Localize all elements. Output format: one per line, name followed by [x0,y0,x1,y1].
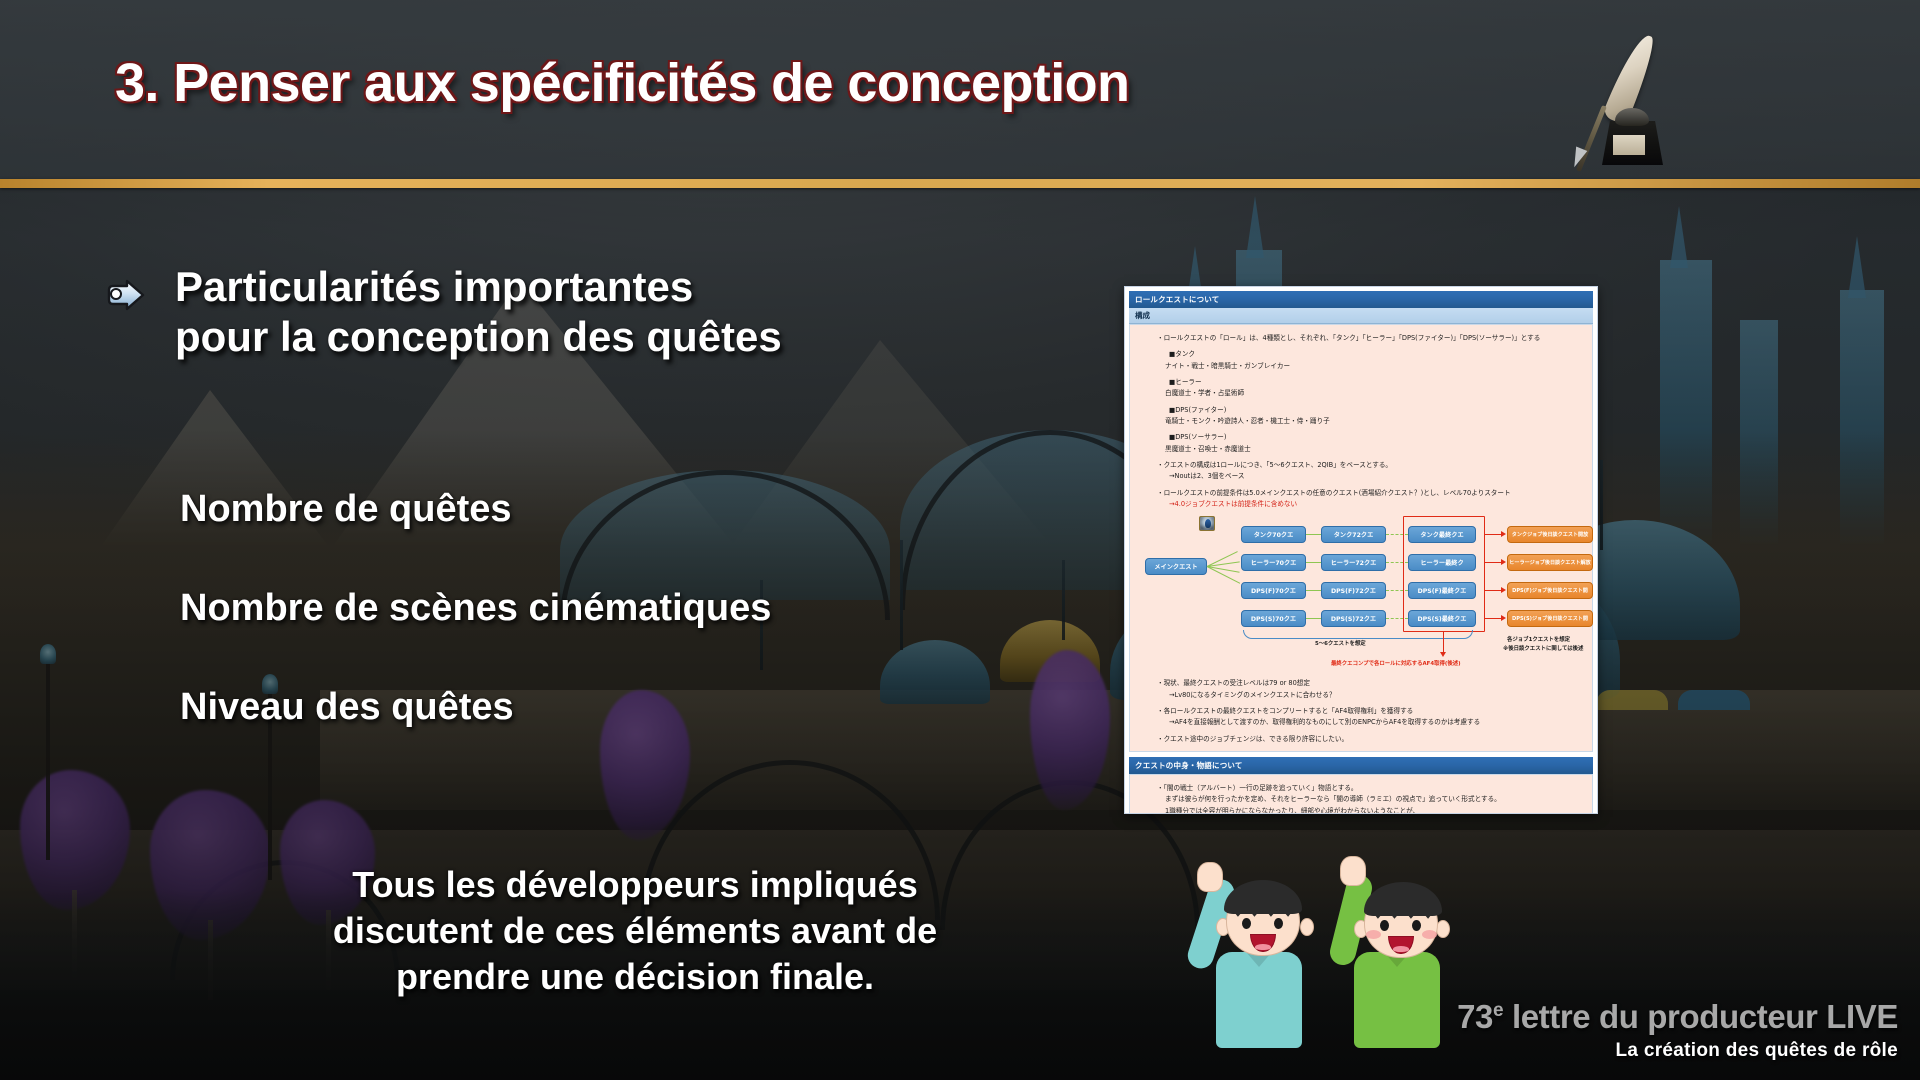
kid-hair-icon [1364,882,1442,916]
flow-connector [1306,562,1321,563]
doc-line: ・各ロールクエストの最終クエストをコンプリートすると「AF4取得権利」を獲得する [1139,706,1583,717]
kid-ear-icon [1300,918,1314,936]
doc-section1-body: ・ロールクエストの「ロール」は、4種類とし、それぞれ、「タンク」「ヒーラー」「D… [1129,324,1593,752]
kid-eyebrow [1378,914,1392,918]
flow-node-healer-70: ヒーラー70クエ [1241,554,1306,571]
arrow-down-icon [1440,652,1446,657]
doc-section1-band: ロールクエストについて [1129,291,1593,308]
brace-note: 5〜6クエストを想定 [1315,640,1366,648]
doc-line: ・ロールクエストの前提条件は5.0メインクエストの任意のクエスト(酒場紹介クエス… [1139,488,1583,499]
slide-title: 3. Penser aux spécificités de conception [115,52,1129,114]
flow-node-tank-epilogue: タンクジョブ後日談クエスト開放 [1507,526,1593,543]
doc-section2-body: ・「闇の戦士（アルバート）一行の足跡を追っていく」物語とする。まずは彼らが何を行… [1129,774,1593,814]
brand-number: 73 [1457,998,1493,1035]
doc-line: ■ヒーラー [1139,377,1583,388]
arrow-right-icon [1501,531,1506,537]
kid-eyebrow [1240,912,1254,916]
conclusion-line-3: prendre une décision finale. [130,954,1140,1000]
doc-line: 白魔道士・学者・占星術師 [1139,388,1583,399]
flow-connector [1306,618,1321,619]
flow-node-healer-final: ヒーラー最終ク [1408,554,1476,571]
kid-ear-icon [1436,920,1450,938]
main-bullet-block: Particularités importantes pour la conce… [105,262,1105,361]
flow-connector [1306,534,1321,535]
list-item: Nombre de scènes cinématiques [180,587,1100,630]
list-item: Nombre de quêtes [180,488,1100,531]
conclusion-text: Tous les développeurs impliqués discuten… [130,862,1140,1000]
flow-node-dpsf-final: DPS(F)最終クエ [1408,582,1476,599]
doc-line: ・クエスト途中のジョブチェンジは、できる限り許容にしたい。 [1139,734,1583,745]
flow-node-dpsf-72: DPS(F)72クエ [1321,582,1386,599]
kid-eyebrow [1410,914,1424,918]
doc-line: ■DPS(ソーサラー) [1139,432,1583,443]
doc-line: 1職種分では全容が明らかにならなかったり、細部や心境がわからないようなことが、 [1139,806,1583,814]
arrow-right-icon [1501,615,1506,621]
doc-line: →4.0ジョブクエストは前提条件に含めない [1139,499,1583,510]
kid-hair-icon [1224,880,1302,914]
doc-line: ・「闇の戦士（アルバート）一行の足跡を追っていく」物語とする。 [1139,783,1583,794]
flow-connector-red-vertical [1443,632,1444,654]
brand-subtitle: La création des quêtes de rôle [1457,1040,1898,1062]
doc-line: ・クエストの構成は1ロールにつき、「5〜6クエスト、2QIB」をベースとする。 [1139,460,1583,471]
broadcast-branding: 73e lettre du producteur LIVE La créatio… [1457,1000,1898,1062]
doc-line: →AF4を直接報酬として渡すのか、取得権利的なものにして別のENPCからAF4を… [1139,717,1583,728]
kid-cheek [1366,930,1381,939]
bullet-heading: Particularités importantes pour la conce… [175,262,1105,361]
main-quest-icon [1199,516,1215,531]
flow-node-dpss-72: DPS(S)72クエ [1321,610,1386,627]
kid-cheek [1422,930,1437,939]
af4-note: 最終クエコンプで各ロールに対応するAF4取得(後述) [1331,660,1461,668]
doc-line: まずは彼らが何を行ったかを定め、それをヒーラーなら「闇の導師（ラミエ）の視点で」… [1139,794,1583,805]
flow-node-tank-70: タンク70クエ [1241,526,1306,543]
doc-section1-subband: 構成 [1129,308,1593,324]
kid-eye-icon [1380,920,1389,931]
waving-characters-illustration [1188,856,1458,1080]
inkwell-lid-icon [1615,108,1649,126]
doc-line: 竜騎士・モンク・吟遊詩人・忍者・機工士・侍・踊り子 [1139,416,1583,427]
flow-node-dpss-70: DPS(S)70クエ [1241,610,1306,627]
list-item: Niveau des quêtes [180,686,1100,729]
doc-line: →Noutは2、3個をベース [1139,471,1583,482]
brand-title: 73e lettre du producteur LIVE [1457,1000,1898,1035]
kid-eyebrow [1272,912,1286,916]
inkwell-label [1613,135,1645,155]
doc-section2-lines: ・「闇の戦士（アルバート）一行の足跡を追っていく」物語とする。まずは彼らが何を行… [1139,783,1583,814]
flow-connector [1306,590,1321,591]
japanese-design-document-panel: ロールクエストについて 構成 ・ロールクエストの「ロール」は、4種類とし、それぞ… [1124,286,1598,814]
flow-node-dpsf-70: DPS(F)70クエ [1241,582,1306,599]
flow-node-healer-epilogue: ヒーラージョブ後日談クエスト解放 [1507,554,1593,571]
kid-eye-icon [1412,920,1421,931]
kid-eye-icon [1242,918,1251,929]
doc-line: ■DPS(ファイター) [1139,405,1583,416]
bullet-heading-line-1: Particularités importantes [175,262,1105,312]
flow-node-healer-72: ヒーラー72クエ [1321,554,1386,571]
arrow-right-icon [1501,587,1506,593]
flow-node-dpss-epilogue: DPS(S)ジョブ後日談クエスト開 [1507,610,1593,627]
quest-count-brace [1243,630,1473,639]
conclusion-line-1: Tous les développeurs impliqués [130,862,1140,908]
bullet-heading-line-2: pour la conception des quêtes [175,312,1105,362]
flow-node-tank-72: タンク72クエ [1321,526,1386,543]
doc-section1-after-lines: ・現状、最終クエストの受注レベルは79 or 80想定→Lv80になるタイミング… [1139,678,1583,745]
brand-ordinal: e [1493,1000,1503,1021]
kid-hand-icon [1197,862,1223,892]
quill-pen-and-inkwell-icon [1556,22,1716,182]
doc-line: 黒魔道士・召喚士・赤魔道士 [1139,444,1583,455]
job-quest-note-line2: ※後日談クエストに関しては後述 [1503,645,1583,653]
doc-section1-lines: ・ロールクエストの「ロール」は、4種類とし、それぞれ、「タンク」「ヒーラー」「D… [1139,333,1583,510]
flow-node-start: メインクエスト [1145,558,1207,575]
brand-title-rest: lettre du producteur LIVE [1503,998,1898,1035]
flow-node-dpss-final: DPS(S)最終クエ [1408,610,1476,627]
doc-line: ■タンク [1139,349,1583,360]
pointing-hand-bullet-icon [105,276,153,312]
doc-line: ・ロールクエストの「ロール」は、4種類とし、それぞれ、「タンク」「ヒーラー」「D… [1139,333,1583,344]
job-quest-note-line1: 各ジョブ1クエストを想定 [1507,636,1570,644]
flow-node-tank-final: タンク最終クエ [1408,526,1476,543]
doc-line: ・現状、最終クエストの受注レベルは79 or 80想定 [1139,678,1583,689]
consideration-list: Nombre de quêtes Nombre de scènes cinéma… [180,488,1100,785]
doc-line: ナイト・戦士・暗黒騎士・ガンブレイカー [1139,361,1583,372]
conclusion-line-2: discutent de ces éléments avant de [130,908,1140,954]
flow-node-dpsf-epilogue: DPS(F)ジョブ後日談クエスト開 [1507,582,1593,599]
doc-section2-band: クエストの中身・物語について [1129,757,1593,774]
doc-line: →Lv80になるタイミングのメインクエストに合わせる？ [1139,690,1583,701]
presentation-slide: 3. Penser aux spécificités de conception… [0,0,1920,1080]
arrow-right-icon [1501,559,1506,565]
kid-hand-icon [1340,856,1366,886]
kid-eye-icon [1274,918,1283,929]
role-quest-flow-diagram: メインクエスト タンク70クエ ヒーラー70クエ DPS(F)70クエ DPS(… [1139,514,1583,640]
